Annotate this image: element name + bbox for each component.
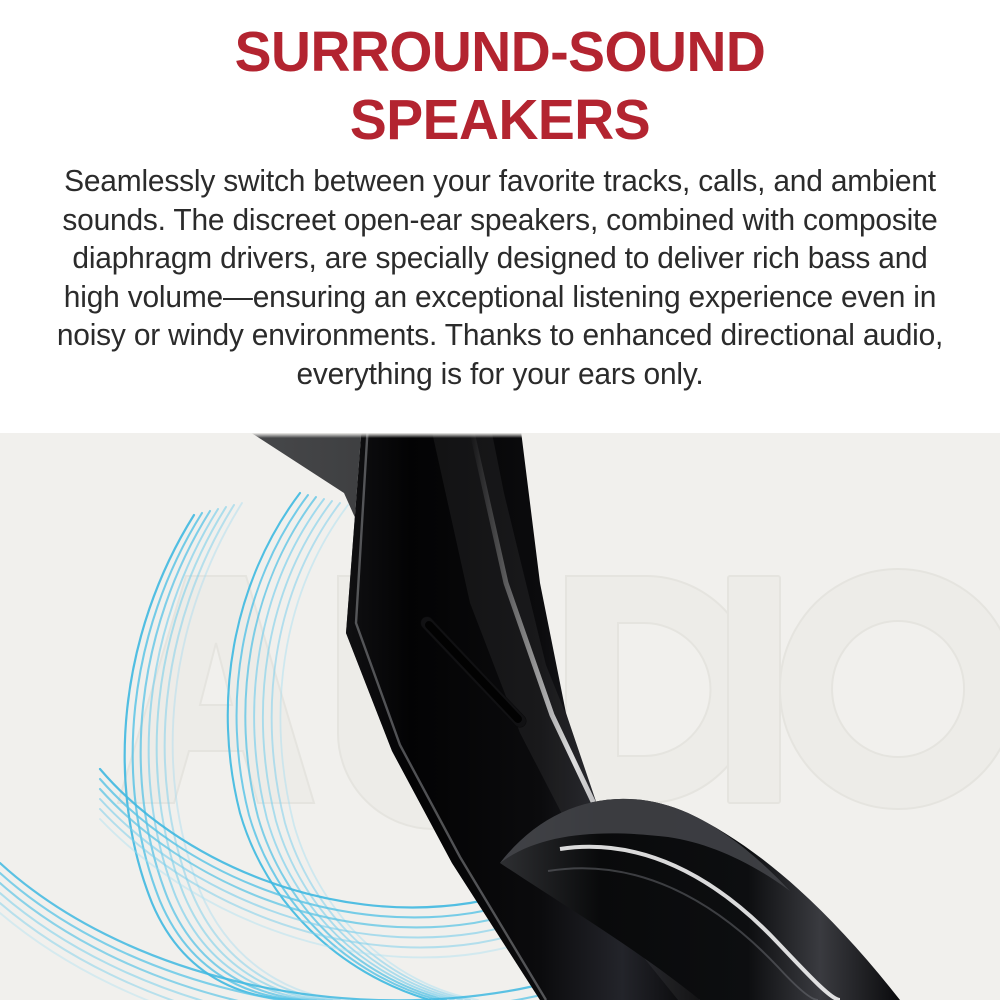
product-image-panel	[0, 433, 1000, 1000]
page-title: SURROUND-SOUND SPEAKERS	[15, 0, 985, 154]
product-feature-page: SURROUND-SOUND SPEAKERS Seamlessly switc…	[0, 0, 1000, 1000]
text-panel: SURROUND-SOUND SPEAKERS Seamlessly switc…	[0, 0, 1000, 433]
product-hero-illustration	[0, 433, 1000, 1000]
body-description: Seamlessly switch between your favorite …	[18, 154, 983, 393]
